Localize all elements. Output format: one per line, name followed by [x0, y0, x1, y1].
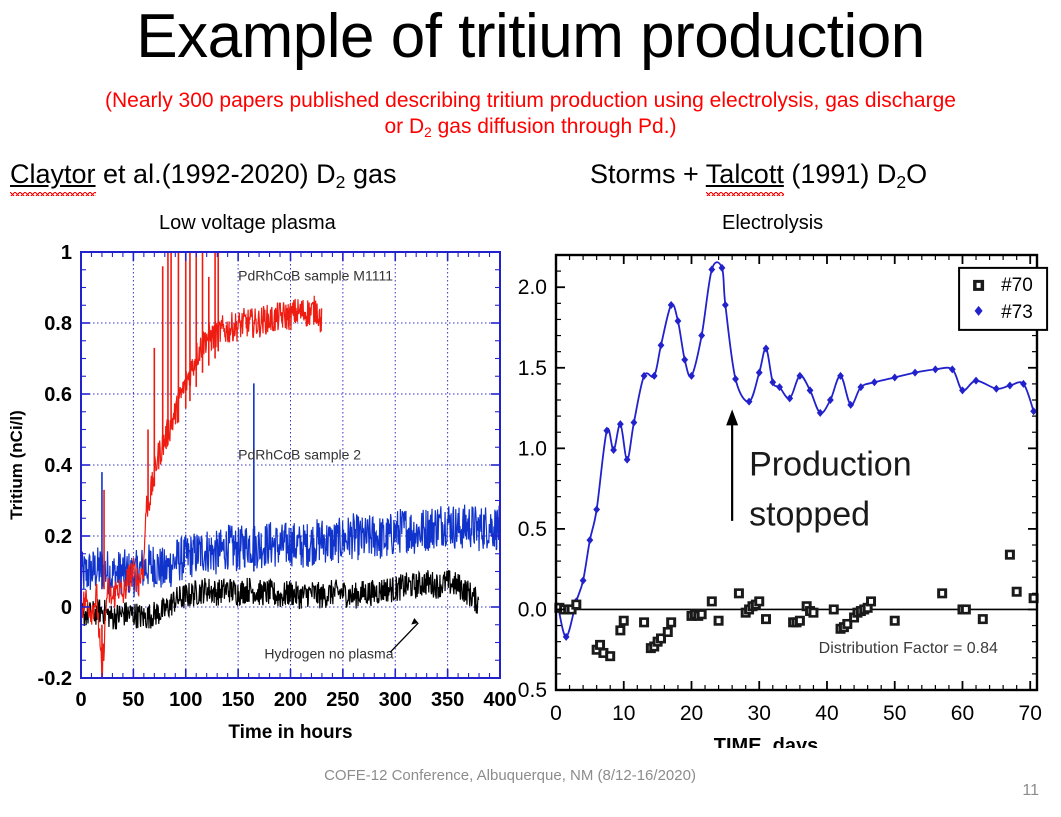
series-70-marker-inner	[717, 618, 721, 623]
x-tick-label: 0	[75, 689, 86, 711]
x-axis-label: TIME, days	[714, 735, 818, 748]
series-70-marker-inner	[618, 628, 622, 633]
series-70-marker-inner	[737, 591, 741, 596]
x-tick-label: 0	[550, 702, 562, 725]
y-tick-label: 0.6	[44, 384, 72, 406]
right-heading-rest-b: O	[906, 159, 927, 189]
series-70-marker-inner	[710, 599, 714, 604]
series-70-marker-inner	[642, 620, 646, 625]
production-stopped-label-line2: stopped	[749, 496, 870, 534]
series-70-marker-inner	[869, 599, 873, 604]
subtitle-line-1: (Nearly 300 papers published describing …	[105, 89, 956, 112]
subtitle: (Nearly 300 papers published describing …	[6, 88, 1055, 146]
series-70-marker-inner	[1015, 589, 1019, 594]
series-70-marker-inner	[798, 618, 802, 623]
right-heading-rest-a: (1991) D	[784, 159, 897, 189]
series-70-marker-inner	[964, 607, 968, 612]
right-heading-a: Storms +	[590, 159, 706, 189]
left-heading-rest-b: gas	[345, 159, 396, 189]
series-70-marker-inner	[666, 630, 670, 635]
slide-footer: COFE-12 Conference, Albuquerque, NM (8/1…	[300, 766, 720, 785]
right-chart-title: Electrolysis	[722, 212, 823, 235]
slide: Example of tritium production (Nearly 30…	[0, 0, 1061, 817]
x-tick-label: 60	[951, 702, 974, 725]
legend-label-73: #73	[1001, 302, 1033, 323]
legend-marker-70-inner	[977, 283, 981, 288]
y-tick-label: 1	[61, 242, 72, 264]
series-70-marker-inner	[1008, 552, 1012, 557]
series-70-marker-inner	[764, 617, 768, 622]
y-tick-label: 0	[61, 597, 72, 619]
x-tick-label: 100	[169, 689, 202, 711]
x-tick-label: 400	[483, 689, 516, 711]
series-70-marker-inner	[669, 620, 673, 625]
series-70-marker-inner	[700, 612, 704, 617]
series-70-marker-inner	[659, 636, 663, 641]
series-70-marker-inner	[574, 602, 578, 607]
series-70-marker-inner	[845, 622, 849, 627]
subtitle-line-2: or D2 gas diffusion through Pd.)	[6, 114, 1055, 146]
y-tick-label: -0.5	[518, 679, 547, 702]
x-tick-label: 150	[221, 689, 254, 711]
x-tick-label: 20	[680, 702, 703, 725]
production-stopped-label-line1: Production	[749, 446, 912, 484]
series-70-marker-inner	[811, 610, 815, 615]
electrolysis-chart: 010203040506070-0.50.00.51.01.52.0TIME, …	[518, 236, 1061, 748]
series-70-marker-inner	[601, 651, 605, 656]
y-tick-label: -0.2	[38, 668, 72, 690]
subtitle-line-2-b: gas diffusion through Pd.)	[432, 115, 677, 138]
series-70-marker-inner	[608, 654, 612, 659]
left-panel-heading: Claytor et al.(1992-2020) D2 gas	[10, 159, 396, 193]
series-70-marker-inner	[940, 591, 944, 596]
series-70-marker-inner	[757, 599, 761, 604]
subtitle-line-2-a: or D	[384, 115, 424, 138]
right-plot-group: 010203040506070-0.50.00.51.01.52.0TIME, …	[518, 255, 1047, 748]
y-tick-label: 1.5	[518, 357, 547, 380]
right-heading-subscript: 2	[896, 172, 906, 192]
spellcheck-word-claytor: Claytor	[10, 159, 96, 189]
left-heading-subscript: 2	[336, 172, 346, 192]
y-axis-label: Tritium (nCi/l)	[7, 410, 26, 520]
x-tick-label: 50	[122, 689, 144, 711]
left-plot-group: 050100150200250300350400-0.200.20.40.60.…	[7, 242, 517, 743]
series-70-marker-inner	[622, 618, 626, 623]
page-number: 11	[1022, 782, 1039, 800]
low-voltage-plasma-chart: 050100150200250300350400-0.200.20.40.60.…	[0, 236, 518, 748]
spellcheck-word-talcott: Talcott	[706, 159, 784, 189]
x-tick-label: 50	[883, 702, 906, 725]
page-title: Example of tritium production	[0, 4, 1061, 70]
series-70-marker-inner	[1032, 596, 1036, 601]
y-tick-label: 0.4	[44, 455, 73, 477]
series-70-marker-inner	[981, 617, 985, 622]
x-tick-label: 200	[274, 689, 307, 711]
legend: #70#73	[959, 268, 1047, 330]
x-tick-label: 40	[815, 702, 838, 725]
series-70-marker-inner	[832, 607, 836, 612]
y-tick-label: 0.0	[518, 598, 547, 621]
x-tick-label: 300	[379, 689, 412, 711]
legend-label-70: #70	[1001, 275, 1033, 296]
x-tick-label: 250	[326, 689, 359, 711]
y-tick-label: 2.0	[518, 276, 547, 299]
distribution-factor-label: Distribution Factor = 0.84	[819, 640, 998, 657]
y-tick-label: 0.8	[44, 313, 72, 335]
y-tick-label: 1.0	[518, 437, 547, 460]
right-chart-figure: 010203040506070-0.50.00.51.01.52.0TIME, …	[518, 236, 1061, 748]
right-panel-heading: Storms + Talcott (1991) D2O	[590, 159, 927, 193]
y-tick-label: 0.2	[44, 526, 72, 548]
x-tick-label: 350	[431, 689, 464, 711]
left-chart-figure: 050100150200250300350400-0.200.20.40.60.…	[0, 236, 518, 748]
annotation-2: Hydrogen no plasma	[264, 645, 393, 661]
left-chart-title: Low voltage plasma	[159, 212, 336, 235]
x-tick-label: 10	[612, 702, 635, 725]
series-70-marker-inner	[598, 642, 602, 647]
y-tick-label: 0.5	[518, 518, 547, 541]
x-tick-label: 30	[748, 702, 771, 725]
left-heading-rest-a: et al.(1992-2020) D	[96, 159, 336, 189]
series-70-marker-inner	[893, 618, 897, 623]
x-axis-label: Time in hours	[228, 722, 352, 743]
annotation-1: PdRhCoB sample 2	[238, 447, 361, 463]
subtitle-subscript: 2	[424, 125, 432, 140]
annotation-0: PdRhCoB sample M1111	[238, 267, 393, 283]
x-tick-label: 70	[1019, 702, 1042, 725]
